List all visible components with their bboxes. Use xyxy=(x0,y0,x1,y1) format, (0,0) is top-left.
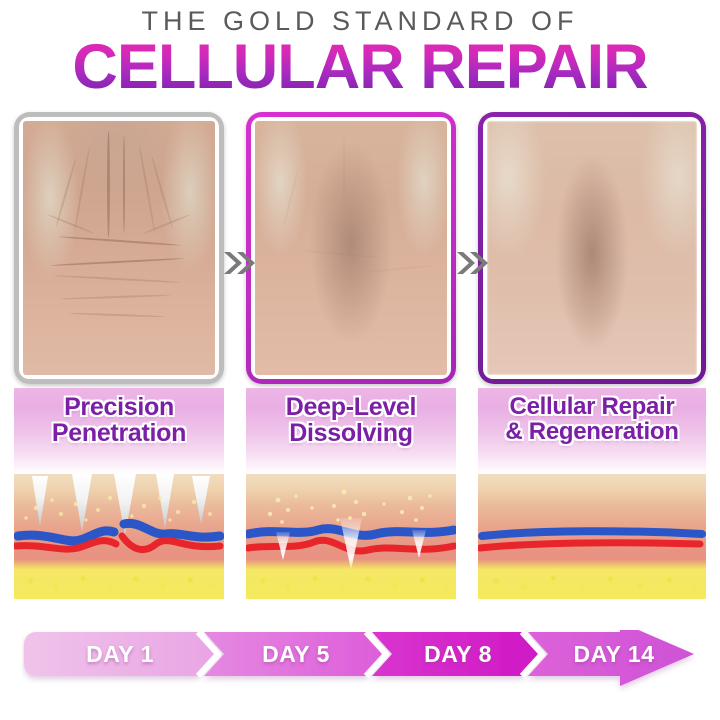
wrinkle-lines xyxy=(23,121,215,375)
photo-frame-1 xyxy=(14,112,224,384)
fat-layer xyxy=(14,559,224,599)
step-label-3-line2: & Regeneration xyxy=(505,418,678,445)
step-label-3: Cellular Repair & Regeneration xyxy=(505,395,678,444)
step-column-1: Precision Penetration xyxy=(14,112,224,599)
cross-section-1 xyxy=(14,474,224,599)
step-label-1: Precision Penetration xyxy=(52,395,186,447)
step-label-1-line1: Precision xyxy=(64,393,174,421)
page-title: CELLULAR REPAIR xyxy=(0,36,720,99)
fat-layer xyxy=(246,559,456,599)
double-chevron-icon xyxy=(222,248,256,278)
cross-section-3 xyxy=(478,474,706,599)
step-label-2-line1: Deep-Level xyxy=(286,393,416,421)
step-label-3-line1: Cellular Repair xyxy=(510,393,675,420)
before-photo xyxy=(23,121,215,375)
fat-layer xyxy=(478,559,706,599)
photo-frame-inner-1 xyxy=(19,117,219,379)
step-banner-2: Deep-Level Dissolving xyxy=(246,388,456,474)
day-timeline: DAY 1 DAY 5 DAY 8 DAY 14 xyxy=(22,630,698,692)
photo-frame-inner-3 xyxy=(483,117,701,379)
step-label-2: Deep-Level Dissolving xyxy=(286,395,416,447)
double-chevron-icon xyxy=(455,248,489,278)
wrinkle-lines xyxy=(255,121,447,375)
step-column-2: Deep-Level Dissolving xyxy=(246,112,456,599)
skin-texture xyxy=(487,121,697,375)
after-photo xyxy=(487,121,697,375)
cross-section-2 xyxy=(246,474,456,599)
photo-frame-inner-2 xyxy=(251,117,451,379)
photo-frame-2 xyxy=(246,112,456,384)
step-banner-3: Cellular Repair & Regeneration xyxy=(478,388,706,474)
step-banner-1: Precision Penetration xyxy=(14,388,224,474)
step-label-1-line2: Penetration xyxy=(52,419,186,447)
infographic-root: THE GOLD STANDARD OF CELLULAR REPAIR xyxy=(0,0,720,720)
step-column-3: Cellular Repair & Regeneration xyxy=(478,112,706,599)
step-label-2-line2: Dissolving xyxy=(289,419,412,447)
midway-photo xyxy=(255,121,447,375)
photo-frame-3 xyxy=(478,112,706,384)
